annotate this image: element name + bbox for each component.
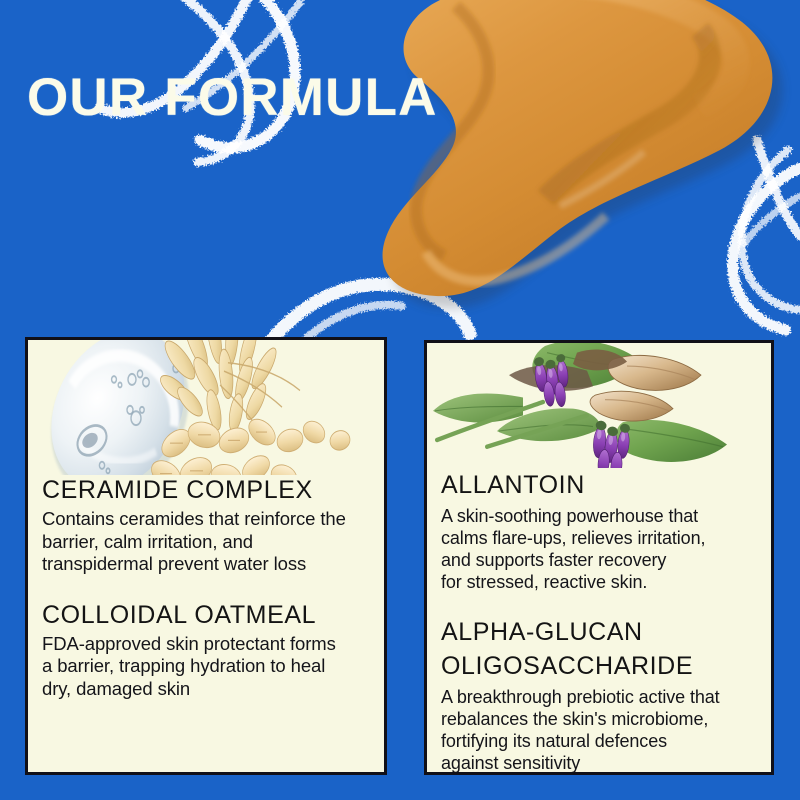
ingredient-card-right: ALLANTOIN A skin-soothing powerhouse tha… [424,340,774,775]
ingredient-title-ceramide-complex: CERAMIDE COMPLEX [42,475,370,505]
card-left-body: CERAMIDE COMPLEX Contains ceramides that… [28,475,384,700]
infographic-canvas: OUR FORMULA [0,0,800,800]
ingredient-title-colloidal-oatmeal: COLLOIDAL OATMEAL [42,600,370,630]
ingredient-title-alpha-glucan: ALPHA-GLUCAN [441,615,757,649]
brush-stroke-top-right [733,140,800,330]
page-title: OUR FORMULA [27,68,438,128]
card-right-body: ALLANTOIN A skin-soothing powerhouse tha… [427,468,771,774]
spacer [42,576,370,600]
ingredient-card-left: CERAMIDE COMPLEX Contains ceramides that… [25,337,387,775]
serum-and-oats-illustration [28,340,384,475]
ingredient-desc-allantoin: A skin-soothing powerhouse that calms fl… [441,505,757,593]
ingredient-title-oligosaccharide: OLIGOSACCHARIDE [441,649,757,683]
comfrey-plant-illustration [427,343,771,468]
card-left-media [28,340,384,475]
card-right-media [427,343,771,468]
ingredient-desc-colloidal-oatmeal: FDA-approved skin protectant forms a bar… [42,633,370,701]
ingredient-desc-alpha-glucan: A breakthrough prebiotic active that reb… [441,686,757,774]
ingredient-title-allantoin: ALLANTOIN [441,468,757,502]
cream-smear-decoration [383,0,783,308]
ingredient-desc-ceramide-complex: Contains ceramides that reinforce the ba… [42,508,370,576]
spacer [441,593,757,615]
